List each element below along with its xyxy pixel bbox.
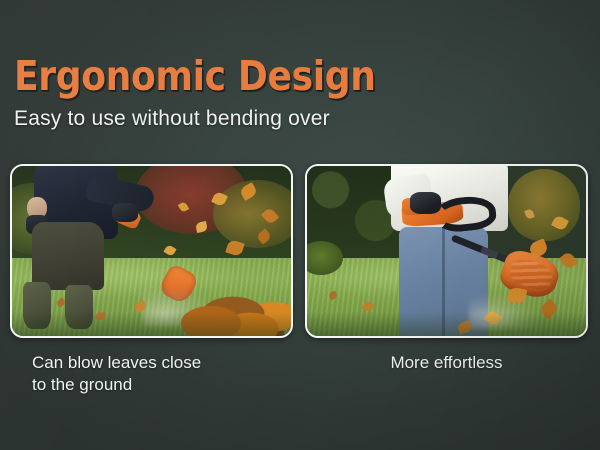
- subheadline: Easy to use without bending over: [14, 106, 330, 132]
- bush-round: [508, 169, 581, 240]
- caption-right-line1: More effortless: [305, 352, 588, 374]
- person-glove-right: [112, 203, 137, 222]
- headline: Ergonomic Design: [14, 54, 376, 98]
- product-feature-banner: Ergonomic Design Easy to use without ben…: [0, 0, 600, 450]
- leaf: [528, 238, 549, 258]
- caption-left-line2: to the ground: [32, 374, 201, 396]
- feature-photo-left: [10, 164, 293, 338]
- photo-left-scene: [12, 166, 291, 336]
- caption-right: More effortless: [305, 352, 588, 374]
- caption-left: Can blow leaves close to the ground: [32, 352, 201, 396]
- photo-right-scene: [307, 166, 586, 336]
- person-legs: [32, 222, 105, 290]
- feature-photo-right: [305, 164, 588, 338]
- ground-shadow: [12, 312, 291, 336]
- caption-left-line1: Can blow leaves close: [32, 352, 201, 374]
- ground-shadow: [307, 312, 586, 336]
